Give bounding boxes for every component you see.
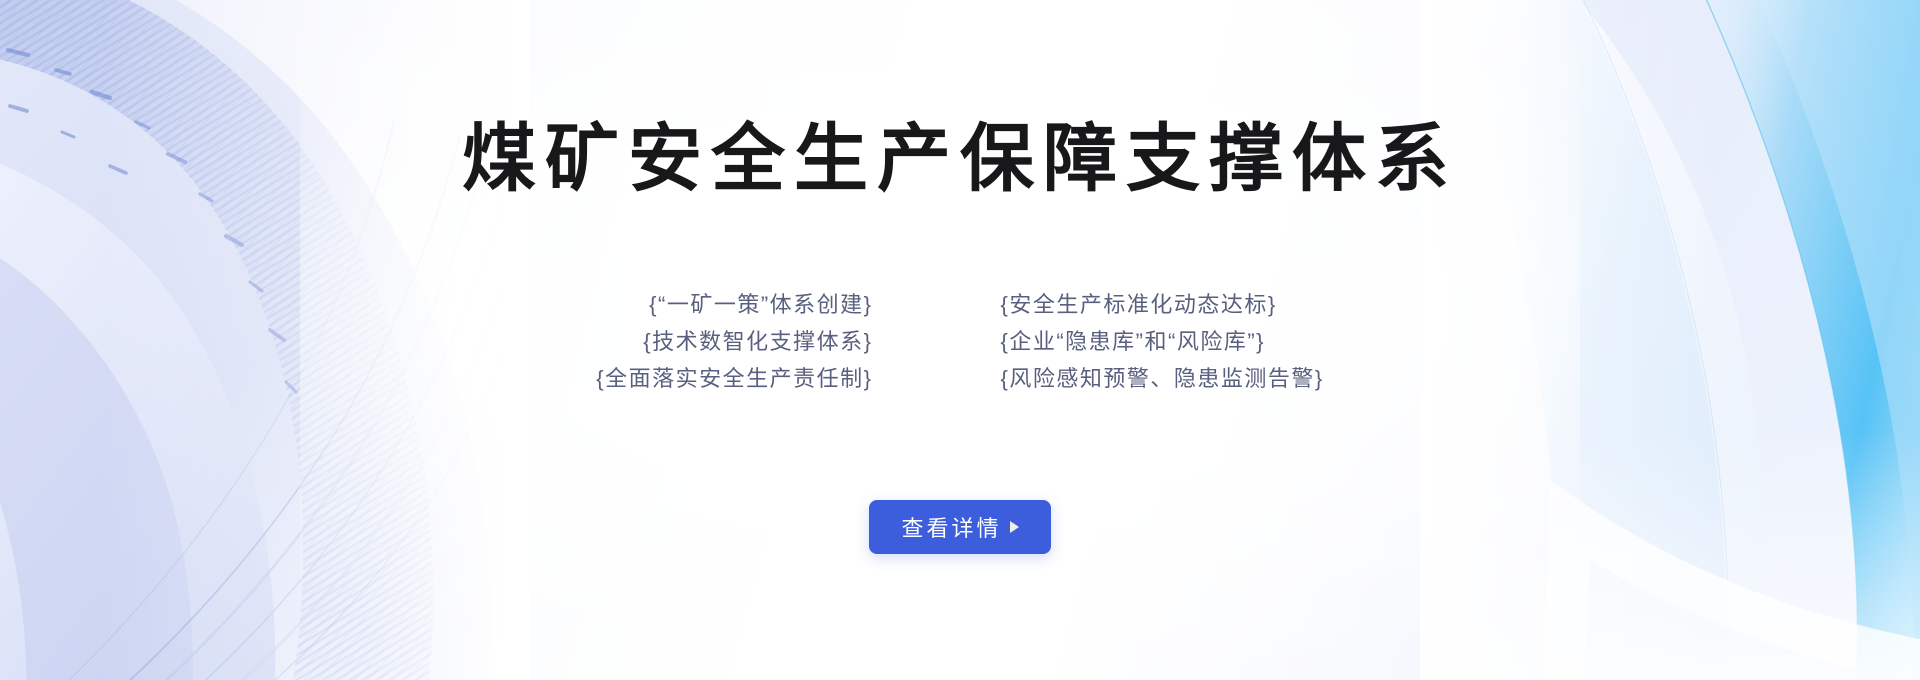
tagline-item: {风险感知预警、隐患监测告警} <box>1001 366 1324 392</box>
hero-banner: 煤矿安全生产保障支撑体系 {“一矿一策”体系创建} {技术数智化支撑体系} {全… <box>0 0 1920 680</box>
cta-wrapper: 查看详情 <box>0 500 1920 554</box>
tagline-item: {全面落实安全生产责任制} <box>596 366 872 392</box>
page-title: 煤矿安全生产保障支撑体系 <box>0 122 1920 196</box>
tagline-item: {企业“隐患库”和“风险库”} <box>1001 329 1266 355</box>
view-details-label: 查看详情 <box>901 511 1001 543</box>
tagline-column-right: {安全生产标准化动态达标} {企业“隐患库”和“风险库”} {风险感知预警、隐患… <box>1001 292 1324 392</box>
tagline-column-left: {“一矿一策”体系创建} {技术数智化支撑体系} {全面落实安全生产责任制} <box>596 292 872 392</box>
play-triangle-icon <box>1010 521 1019 533</box>
tagline-grid: {“一矿一策”体系创建} {技术数智化支撑体系} {全面落实安全生产责任制} {… <box>0 292 1920 392</box>
tagline-item: {“一矿一策”体系创建} <box>649 292 872 318</box>
banner-content: 煤矿安全生产保障支撑体系 {“一矿一策”体系创建} {技术数智化支撑体系} {全… <box>0 0 1920 680</box>
tagline-item: {安全生产标准化动态达标} <box>1001 292 1277 318</box>
tagline-item: {技术数智化支撑体系} <box>643 329 872 355</box>
view-details-button[interactable]: 查看详情 <box>869 500 1051 554</box>
